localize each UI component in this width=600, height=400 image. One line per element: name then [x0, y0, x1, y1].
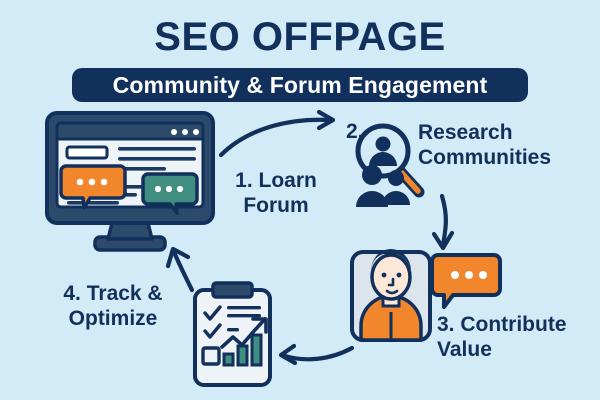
step-1-label: 1. Loarn Forum [218, 168, 334, 218]
step-4-label-line2: Optimize [38, 306, 188, 331]
step-2-label-line2: Communities [418, 145, 593, 170]
step-2-number: 2. [346, 120, 364, 144]
clipboard-chart-icon [195, 283, 270, 385]
step-3-label-line2: Value [437, 337, 597, 362]
chat-bubble-contribute-icon [432, 255, 500, 307]
step-3-label: 3. Contribute Value [437, 312, 597, 362]
step-2-label-line1: Research [418, 120, 593, 145]
magnifier-people-icon [356, 126, 419, 207]
arrow-step3-to-step4 [281, 346, 352, 363]
step-1-label-line1: 1. Loarn [218, 168, 334, 193]
monitor-forum-icon [47, 113, 213, 250]
window-dots-icon [171, 129, 199, 135]
infographic-canvas: SEO OFFPAGE Community & Forum Engagement [0, 0, 600, 400]
arrow-step1-to-step2 [221, 112, 333, 155]
step-3-label-line1: 3. Contribute [437, 312, 597, 337]
step-2-label: Research Communities [418, 120, 593, 170]
step-1-label-line2: Forum [218, 193, 334, 218]
arrow-step2-to-step3 [434, 196, 452, 248]
step-4-label: 4. Track & Optimize [38, 281, 188, 331]
step-4-label-line1: 4. Track & [38, 281, 188, 306]
